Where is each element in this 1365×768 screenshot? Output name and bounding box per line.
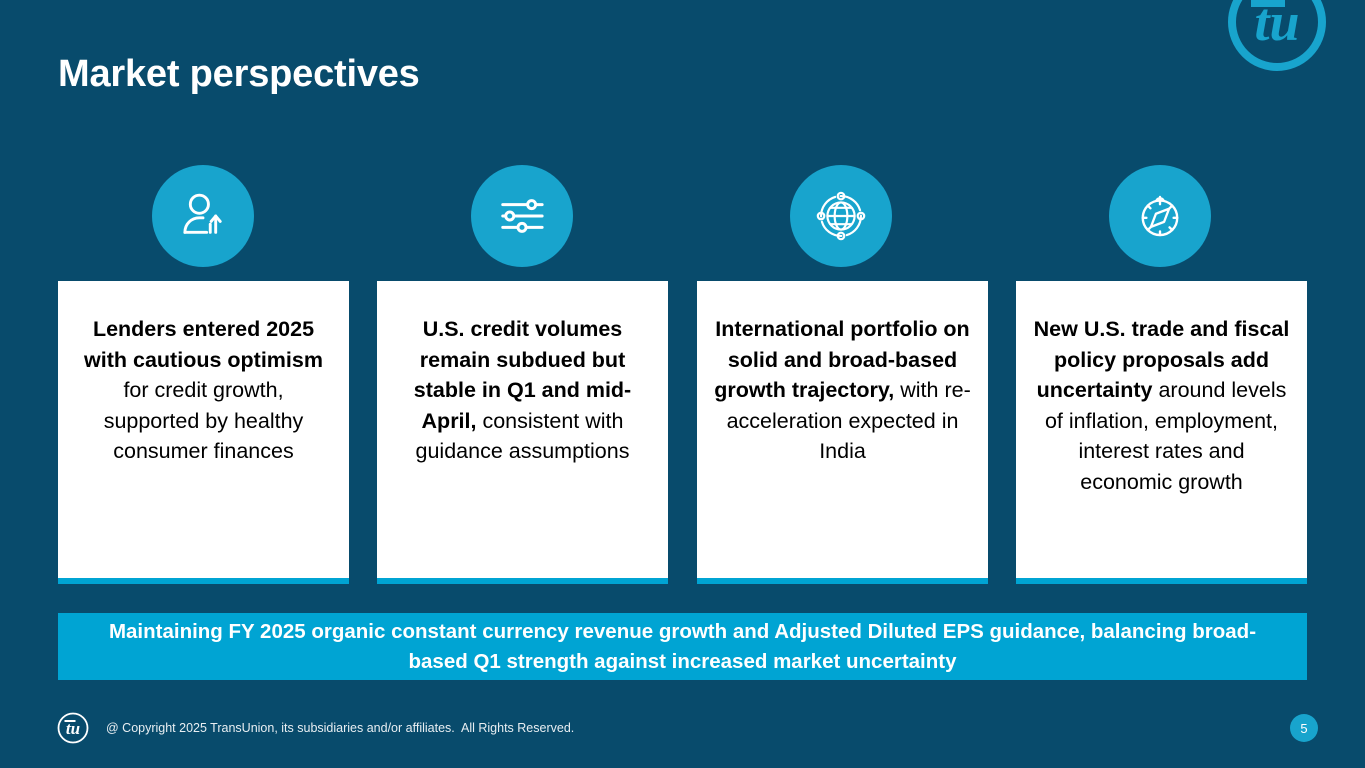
card-us-trade-policy: New U.S. trade and fiscal policy proposa…	[1016, 281, 1307, 584]
person-growth-icon	[152, 165, 254, 267]
copyright-text: @ Copyright 2025 TransUnion, its subsidi…	[106, 721, 574, 735]
card-international-portfolio: International portfolio on solid and bro…	[697, 281, 988, 584]
card-regular-text: for credit growth, supported by healthy …	[104, 378, 304, 463]
guidance-banner: Maintaining FY 2025 organic constant cur…	[58, 613, 1307, 680]
sliders-settings-icon	[471, 165, 573, 267]
card-text: New U.S. trade and fiscal policy proposa…	[1032, 314, 1291, 497]
page-title: Market perspectives	[58, 53, 420, 97]
card-bold-text: Lenders entered 2025 with cautious optim…	[84, 317, 323, 372]
icon-row	[58, 165, 1307, 267]
svg-text:tu: tu	[1254, 0, 1299, 52]
card-text: International portfolio on solid and bro…	[713, 314, 972, 467]
slide-canvas: tu Market perspectives	[0, 0, 1365, 768]
card-text: Lenders entered 2025 with cautious optim…	[74, 314, 333, 467]
globe-network-icon	[790, 165, 892, 267]
footer-transunion-tu-logo-icon: tu	[56, 711, 90, 745]
page-number-badge: 5	[1290, 714, 1318, 742]
compass-icon	[1109, 165, 1211, 267]
card-us-credit-volumes: U.S. credit volumes remain subdued but s…	[377, 281, 668, 584]
cards-container: Lenders entered 2025 with cautious optim…	[58, 281, 1307, 584]
transunion-tu-logo-icon: tu	[1225, 0, 1329, 74]
card-lenders: Lenders entered 2025 with cautious optim…	[58, 281, 349, 584]
card-text: U.S. credit volumes remain subdued but s…	[393, 314, 652, 467]
guidance-banner-text: Maintaining FY 2025 organic constant cur…	[80, 617, 1285, 677]
